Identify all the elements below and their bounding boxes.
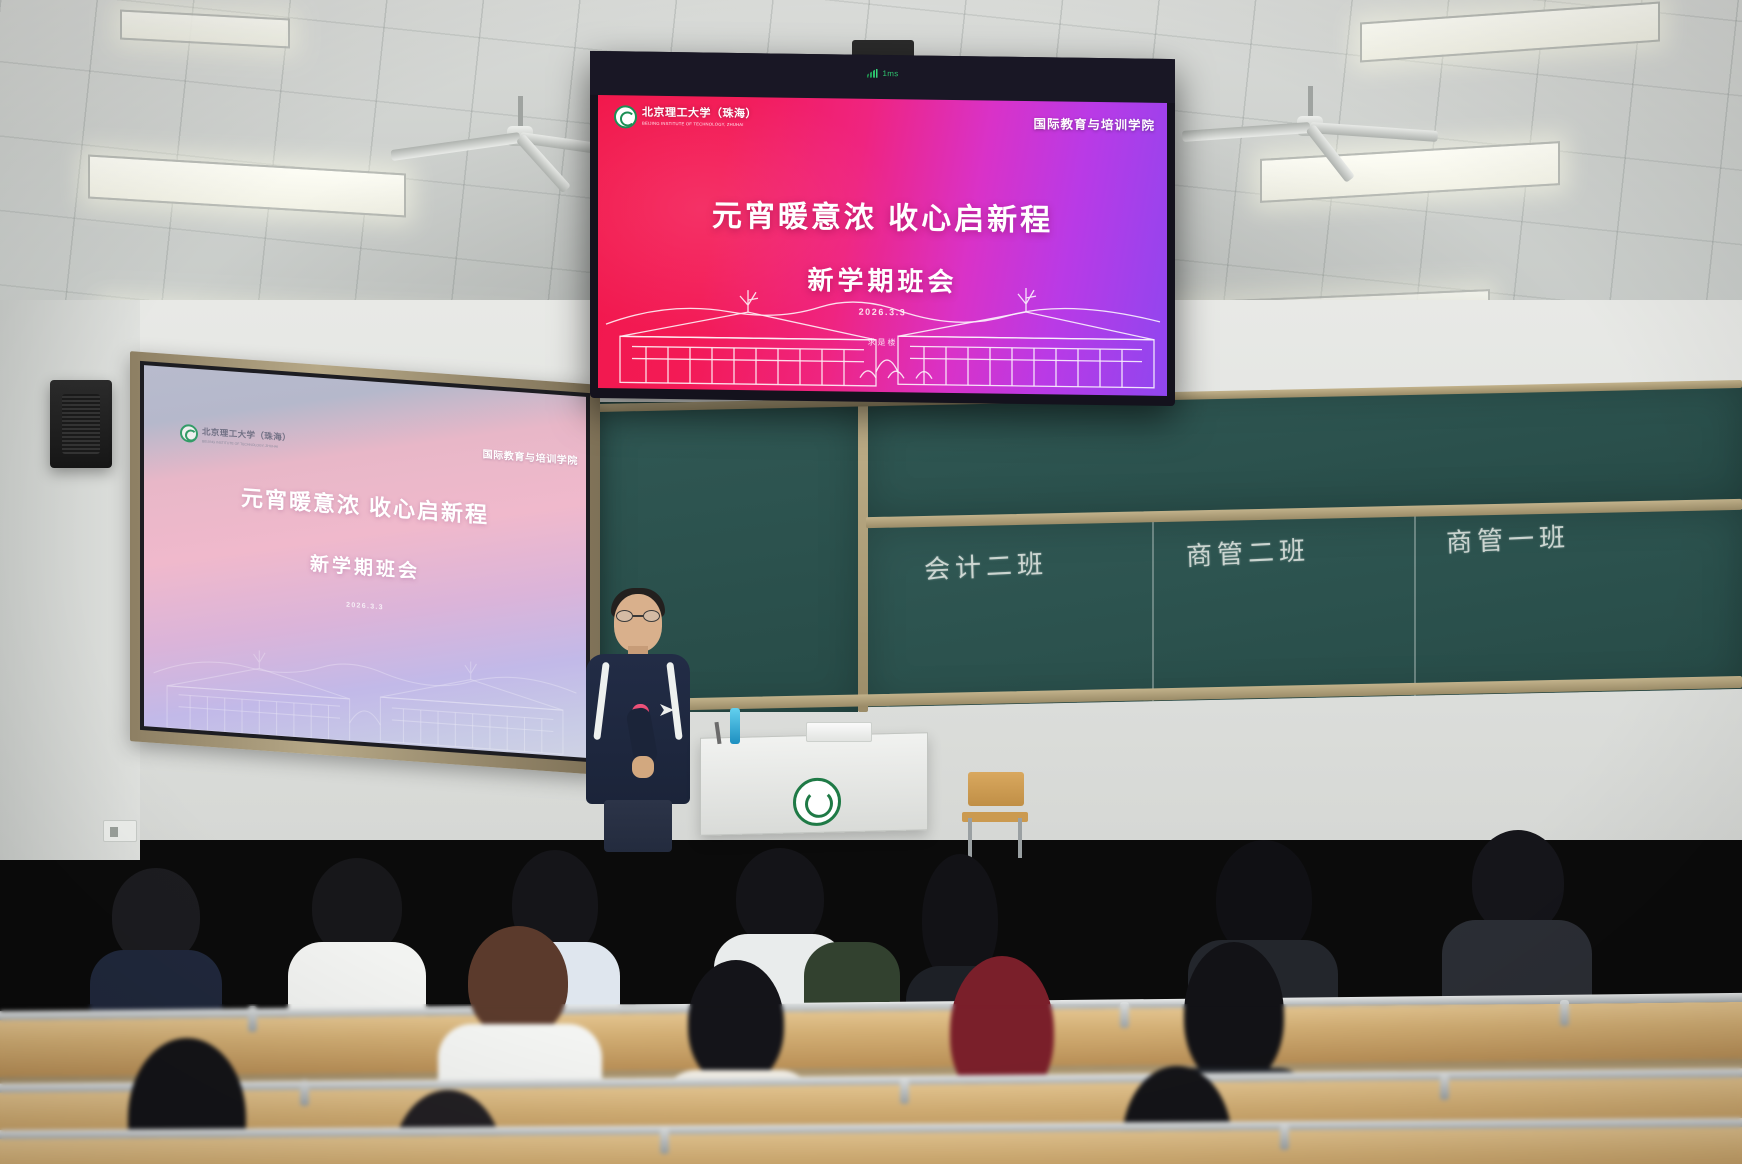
rail-post [1440,1074,1449,1100]
university-crest-icon [614,105,637,128]
chalk-divider [1414,516,1416,696]
university-name-en: BEIJING INSTITUTE OF TECHNOLOGY, ZHUHAI [642,122,757,128]
chalk-divider [1152,521,1154,701]
slide-subhead: 新学期班会 [144,537,586,596]
university-logo: 北京理工大学（珠海） BEIJING INSTITUTE OF TECHNOLO… [180,424,291,450]
fan-blade [1182,122,1310,142]
projection-screen-surface: 北京理工大学（珠海） BEIJING INSTITUTE OF TECHNOLO… [144,365,586,758]
wall-speaker [50,380,112,468]
glasses-icon [616,610,660,622]
rail-post [660,1128,669,1154]
presenter-head [614,594,662,652]
rail-post [300,1080,309,1106]
department-label: 国际教育与培训学院 [483,445,578,467]
tv-status-bar: 1ms [866,69,898,78]
presenter [578,588,698,838]
blackboard-assembly: 会计二班 商管二班 商管一班 [598,392,1742,712]
audience-seating [0,830,1742,1164]
university-crest-icon [180,424,198,443]
campus-building-illustration [598,270,1167,396]
blackboard-panel-writing: 会计二班 商管二班 商管一班 [866,509,1742,707]
ceiling-fan [1190,86,1430,166]
presenter-hand [632,756,654,778]
projection-screen: 北京理工大学（珠海） BEIJING INSTITUTE OF TECHNOLO… [130,351,600,775]
slide-headline: 元宵暖意浓 收心启新程 [598,189,1167,241]
university-logo: 北京理工大学（珠海） BEIJING INSTITUTE OF TECHNOLO… [614,105,757,130]
chalk-note: 商管二班 [1186,530,1311,573]
rail-post [900,1078,909,1104]
rail-post [1560,1000,1569,1026]
rail-post [1280,1124,1289,1150]
university-name-zh: 北京理工大学（珠海） [642,108,757,121]
chalk-note: 商管一班 [1446,517,1571,560]
chair-back [968,772,1024,806]
fan-rod [1308,86,1313,120]
slide-headline: 元宵暖意浓 收心启新程 [144,473,586,537]
lectern [700,732,928,836]
tv-latency-label: 1ms [882,69,898,78]
wall-mounted-tv: 1ms 北京理工大学（珠海） BEIJING INSTITUTE OF TECH… [590,51,1175,406]
rail-post [1120,1002,1129,1028]
signal-bars-icon [866,69,877,78]
water-bottle [730,708,740,744]
fan-blade [1310,122,1438,142]
lecture-hall-photo: 会计二班 商管二班 商管一班 北京理工大学（珠海） BEIJING INSTIT… [0,0,1742,1164]
fan-rod [518,96,523,130]
department-label: 国际教育与培训学院 [1033,113,1155,134]
chalk-note: 会计二班 [924,544,1049,587]
tv-screen-content: 北京理工大学（珠海） BEIJING INSTITUTE OF TECHNOLO… [598,95,1167,396]
school-crest-icon [793,777,841,826]
chalk-box [806,722,872,742]
projection-screen-inner: 北京理工大学（珠海） BEIJING INSTITUTE OF TECHNOLO… [140,361,590,762]
rail-post [248,1006,257,1032]
blackboard-frame-vertical [858,392,868,712]
